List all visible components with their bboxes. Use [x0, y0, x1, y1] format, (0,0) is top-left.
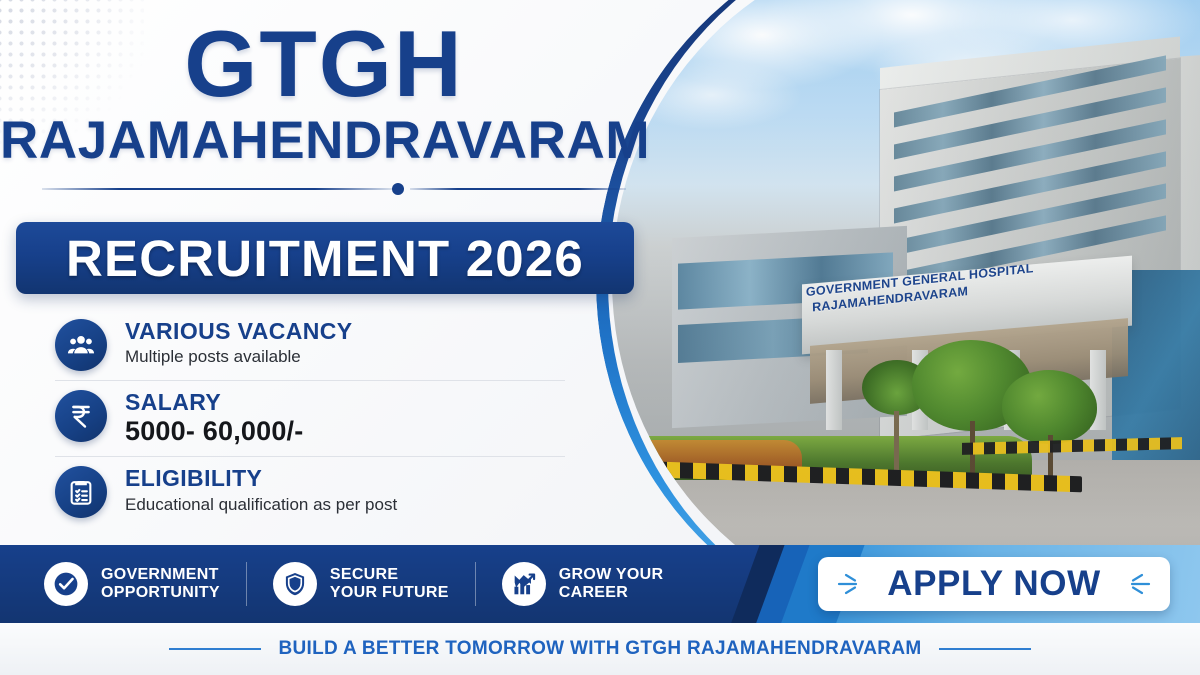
shield-icon [273, 562, 317, 606]
footer-rule-left [169, 648, 261, 650]
info-list: VARIOUS VACANCY Multiple posts available… [55, 310, 565, 525]
feature-label-line1: SECURE [330, 566, 449, 584]
feature-label-line2: CAREER [559, 584, 664, 602]
check-circle-icon [44, 562, 88, 606]
org-abbreviation: GTGH [0, 18, 648, 109]
tree-icon [1002, 370, 1097, 475]
growth-chart-icon [502, 562, 546, 606]
title-block: GTGH RAJAMAHENDRAVARAM [0, 18, 648, 196]
rays-left-icon [835, 569, 869, 599]
info-row-eligibility: ELIGIBILITY Educational qualification as… [55, 456, 565, 525]
org-city: RAJAMAHENDRAVARAM [0, 113, 648, 169]
salary-value: 5000- 60,000/- [125, 416, 303, 447]
feature-government-opportunity: GOVERNMENT OPPORTUNITY [44, 562, 246, 606]
hospital-pillar [826, 350, 842, 430]
clipboard-checklist-icon [55, 466, 107, 518]
recruitment-ribbon-label: RECRUITMENT 2026 [66, 229, 584, 288]
hospital-photo-image: GOVERNMENT GENERAL HOSPITAL RAJAMAHENDRA… [612, 0, 1200, 620]
feature-label-line2: OPPORTUNITY [101, 584, 220, 602]
recruitment-ribbon: RECRUITMENT 2026 [16, 222, 634, 294]
apply-now-button[interactable]: APPLY NOW [818, 557, 1170, 611]
bottom-bar: GOVERNMENT OPPORTUNITY SECURE YOUR FUTUR… [0, 545, 1200, 623]
title-divider [22, 182, 626, 196]
recruitment-poster: GOVERNMENT GENERAL HOSPITAL RAJAMAHENDRA… [0, 0, 1200, 675]
rupee-icon [55, 390, 107, 442]
info-subtext: Multiple posts available [125, 347, 353, 367]
cloud-icon [642, 0, 882, 90]
info-heading: SALARY [125, 389, 303, 415]
rays-right-icon [1119, 569, 1153, 599]
footer-rule-right [939, 648, 1031, 650]
footer-tagline: BUILD A BETTER TOMORROW WITH GTGH RAJAMA… [279, 638, 922, 660]
feature-list: GOVERNMENT OPPORTUNITY SECURE YOUR FUTUR… [44, 545, 689, 623]
footer-tagline-bar: BUILD A BETTER TOMORROW WITH GTGH RAJAMA… [0, 623, 1200, 675]
info-row-salary: SALARY 5000- 60,000/- [55, 380, 565, 454]
divider-dot [392, 183, 404, 195]
feature-grow-your-career: GROW YOUR CAREER [476, 562, 690, 606]
hospital-photo: GOVERNMENT GENERAL HOSPITAL RAJAMAHENDRA… [612, 0, 1200, 620]
feature-label-line2: YOUR FUTURE [330, 584, 449, 602]
info-heading: ELIGIBILITY [125, 465, 397, 491]
feature-label-line1: GOVERNMENT [101, 566, 220, 584]
apply-now-label: APPLY NOW [887, 564, 1101, 604]
feature-label-line1: GROW YOUR [559, 566, 664, 584]
info-heading: VARIOUS VACANCY [125, 318, 353, 344]
feature-secure-your-future: SECURE YOUR FUTURE [247, 562, 475, 606]
people-group-icon [55, 319, 107, 371]
info-subtext: Educational qualification as per post [125, 495, 397, 515]
info-row-vacancy: VARIOUS VACANCY Multiple posts available [55, 310, 565, 378]
